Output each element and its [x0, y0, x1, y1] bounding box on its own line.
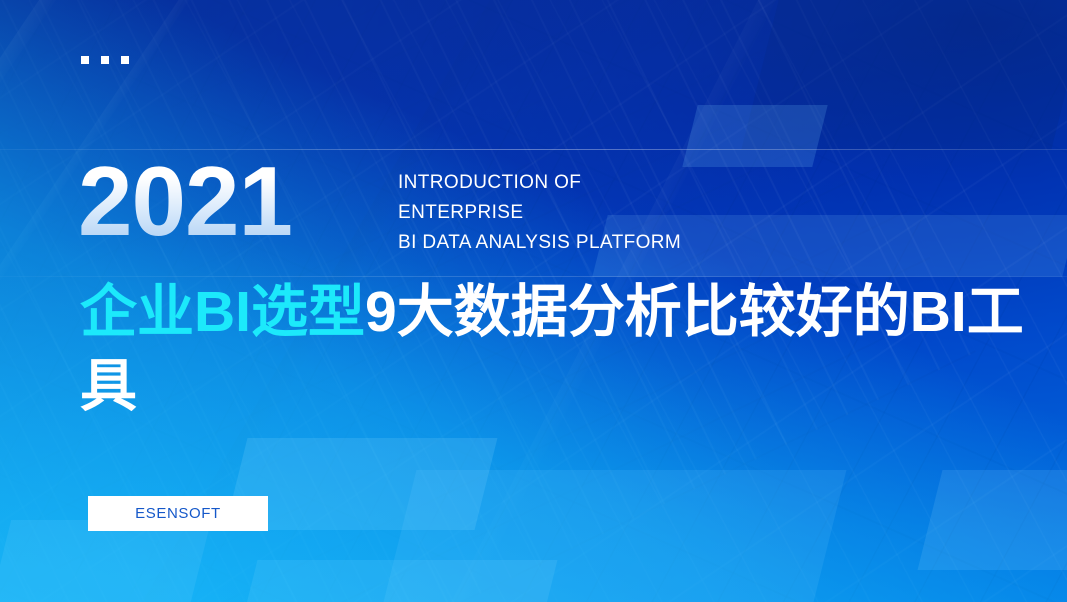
page-title-accent: 企业BI选型 — [80, 280, 365, 344]
english-subtitle-line-3: BI DATA ANALYSIS PLATFORM — [398, 228, 681, 258]
slide-content: 2021 INTRODUCTION OF ENTERPRISE BI DATA … — [0, 0, 1067, 602]
square-dot-icon — [81, 56, 89, 64]
english-subtitle-line-1: INTRODUCTION OF — [398, 168, 681, 198]
year-label: 2021 — [78, 152, 292, 250]
title-slide: 2021 INTRODUCTION OF ENTERPRISE BI DATA … — [0, 0, 1067, 602]
square-dot-icon — [121, 56, 129, 64]
english-subtitle: INTRODUCTION OF ENTERPRISE BI DATA ANALY… — [398, 168, 681, 258]
square-dot-icon — [101, 56, 109, 64]
english-subtitle-line-2: ENTERPRISE — [398, 198, 681, 228]
page-title: 企业BI选型9大数据分析比较好的BI工具 — [80, 276, 1040, 423]
dot-marker-group — [81, 56, 129, 64]
brand-badge[interactable]: ESENSOFT — [88, 496, 268, 531]
